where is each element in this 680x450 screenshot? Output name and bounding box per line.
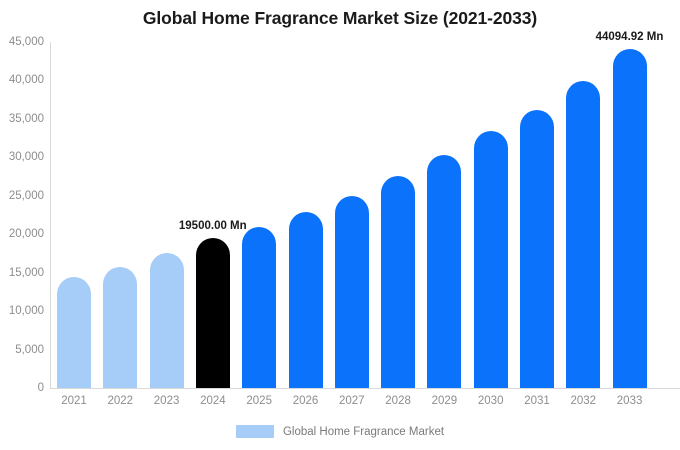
- bar-2033[interactable]: [613, 49, 647, 388]
- chart-legend: Global Home Fragrance Market: [0, 425, 680, 438]
- x-axis-tick-2030: 2030: [468, 395, 514, 407]
- bar-2029[interactable]: [427, 155, 461, 388]
- y-axis-tick: 0: [38, 382, 44, 394]
- x-axis-tick-2029: 2029: [421, 395, 467, 407]
- bar-2031[interactable]: [520, 110, 554, 388]
- y-axis-tick: 15,000: [9, 267, 44, 279]
- x-axis-tick-2027: 2027: [329, 395, 375, 407]
- x-axis-tick-2026: 2026: [282, 395, 328, 407]
- x-axis-line: [50, 388, 680, 389]
- bar-2025[interactable]: [242, 227, 276, 388]
- x-axis-tick-2024: 2024: [190, 395, 236, 407]
- x-axis-tick-2032: 2032: [560, 395, 606, 407]
- bar-2023[interactable]: [150, 253, 184, 388]
- bar-2022[interactable]: [103, 267, 137, 388]
- bar-chart: Global Home Fragrance Market Size (2021-…: [0, 0, 680, 450]
- bar-2030[interactable]: [474, 131, 508, 388]
- y-axis-tick: 35,000: [9, 113, 44, 125]
- bar-2026[interactable]: [289, 212, 323, 388]
- bar-2032[interactable]: [566, 81, 600, 388]
- bar-annotation-2024: 19500.00 Mn: [179, 220, 247, 232]
- x-axis-tick-2031: 2031: [514, 395, 560, 407]
- plot-area: [50, 42, 680, 388]
- legend-label: Global Home Fragrance Market: [283, 426, 444, 438]
- legend-swatch-icon: [236, 425, 274, 438]
- y-axis-tick: 20,000: [9, 228, 44, 240]
- bar-2021[interactable]: [57, 277, 91, 388]
- y-axis-tick: 45,000: [9, 36, 44, 48]
- chart-title: Global Home Fragrance Market Size (2021-…: [0, 8, 680, 29]
- x-axis-tick-2021: 2021: [51, 395, 97, 407]
- x-axis-tick-2022: 2022: [97, 395, 143, 407]
- y-axis-tick: 5,000: [15, 344, 44, 356]
- y-axis-tick-labels: 45,00040,00035,00030,00025,00020,00015,0…: [0, 0, 44, 450]
- bar-2027[interactable]: [335, 196, 369, 388]
- y-axis-tick: 40,000: [9, 74, 44, 86]
- x-axis-tick-2025: 2025: [236, 395, 282, 407]
- bar-annotation-2033: 44094.92 Mn: [596, 31, 664, 43]
- bar-2024[interactable]: [196, 238, 230, 388]
- x-axis-tick-2028: 2028: [375, 395, 421, 407]
- x-axis-tick-2033: 2033: [606, 395, 652, 407]
- x-axis-tick-2023: 2023: [143, 395, 189, 407]
- y-axis-tick: 10,000: [9, 305, 44, 317]
- bar-2028[interactable]: [381, 176, 415, 388]
- y-axis-tick: 30,000: [9, 151, 44, 163]
- y-axis-tick: 25,000: [9, 190, 44, 202]
